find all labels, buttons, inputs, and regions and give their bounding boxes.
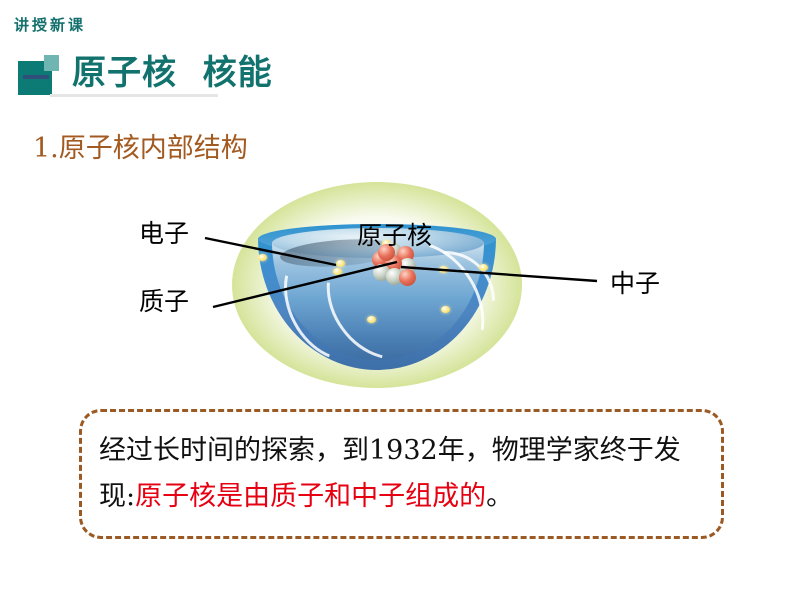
electron-dot (333, 268, 342, 275)
label-electron: 电子 (139, 214, 189, 250)
label-nucleus: 原子核 (357, 216, 432, 252)
label-proton: 质子 (139, 282, 189, 318)
conclusion-text-tail: 。 (486, 481, 513, 512)
section-heading: 1.原子核内部结构 (33, 126, 248, 165)
slide-root: 讲授新课 原子核 核能 1.原子核内部结构 (0, 0, 800, 600)
atom-structure-illustration (232, 182, 522, 388)
lesson-stage-kicker: 讲授新课 (14, 14, 86, 35)
electron-dot (441, 306, 450, 313)
proton-sphere (399, 269, 416, 286)
title-underline (50, 94, 218, 97)
label-neutron: 中子 (610, 264, 660, 300)
conclusion-text-highlight: 原子核是由质子和中子组成的 (135, 481, 486, 512)
conclusion-callout-box: 经过长时间的探索，到1932年，物理学家终于发现:原子核是由质子和中子组成的。 (79, 409, 724, 539)
book-block-icon (18, 55, 60, 95)
electron-dot (336, 260, 345, 267)
electron-dot (439, 266, 448, 273)
page-title: 原子核 核能 (72, 50, 273, 96)
electron-dot (367, 316, 376, 323)
icon-square-accent (44, 55, 59, 71)
electron-dot (479, 264, 488, 271)
conclusion-text: 经过长时间的探索，到1932年，物理学家终于发现:原子核是由质子和中子组成的。 (99, 428, 711, 520)
electron-dot (258, 254, 267, 261)
icon-bar (23, 75, 49, 79)
